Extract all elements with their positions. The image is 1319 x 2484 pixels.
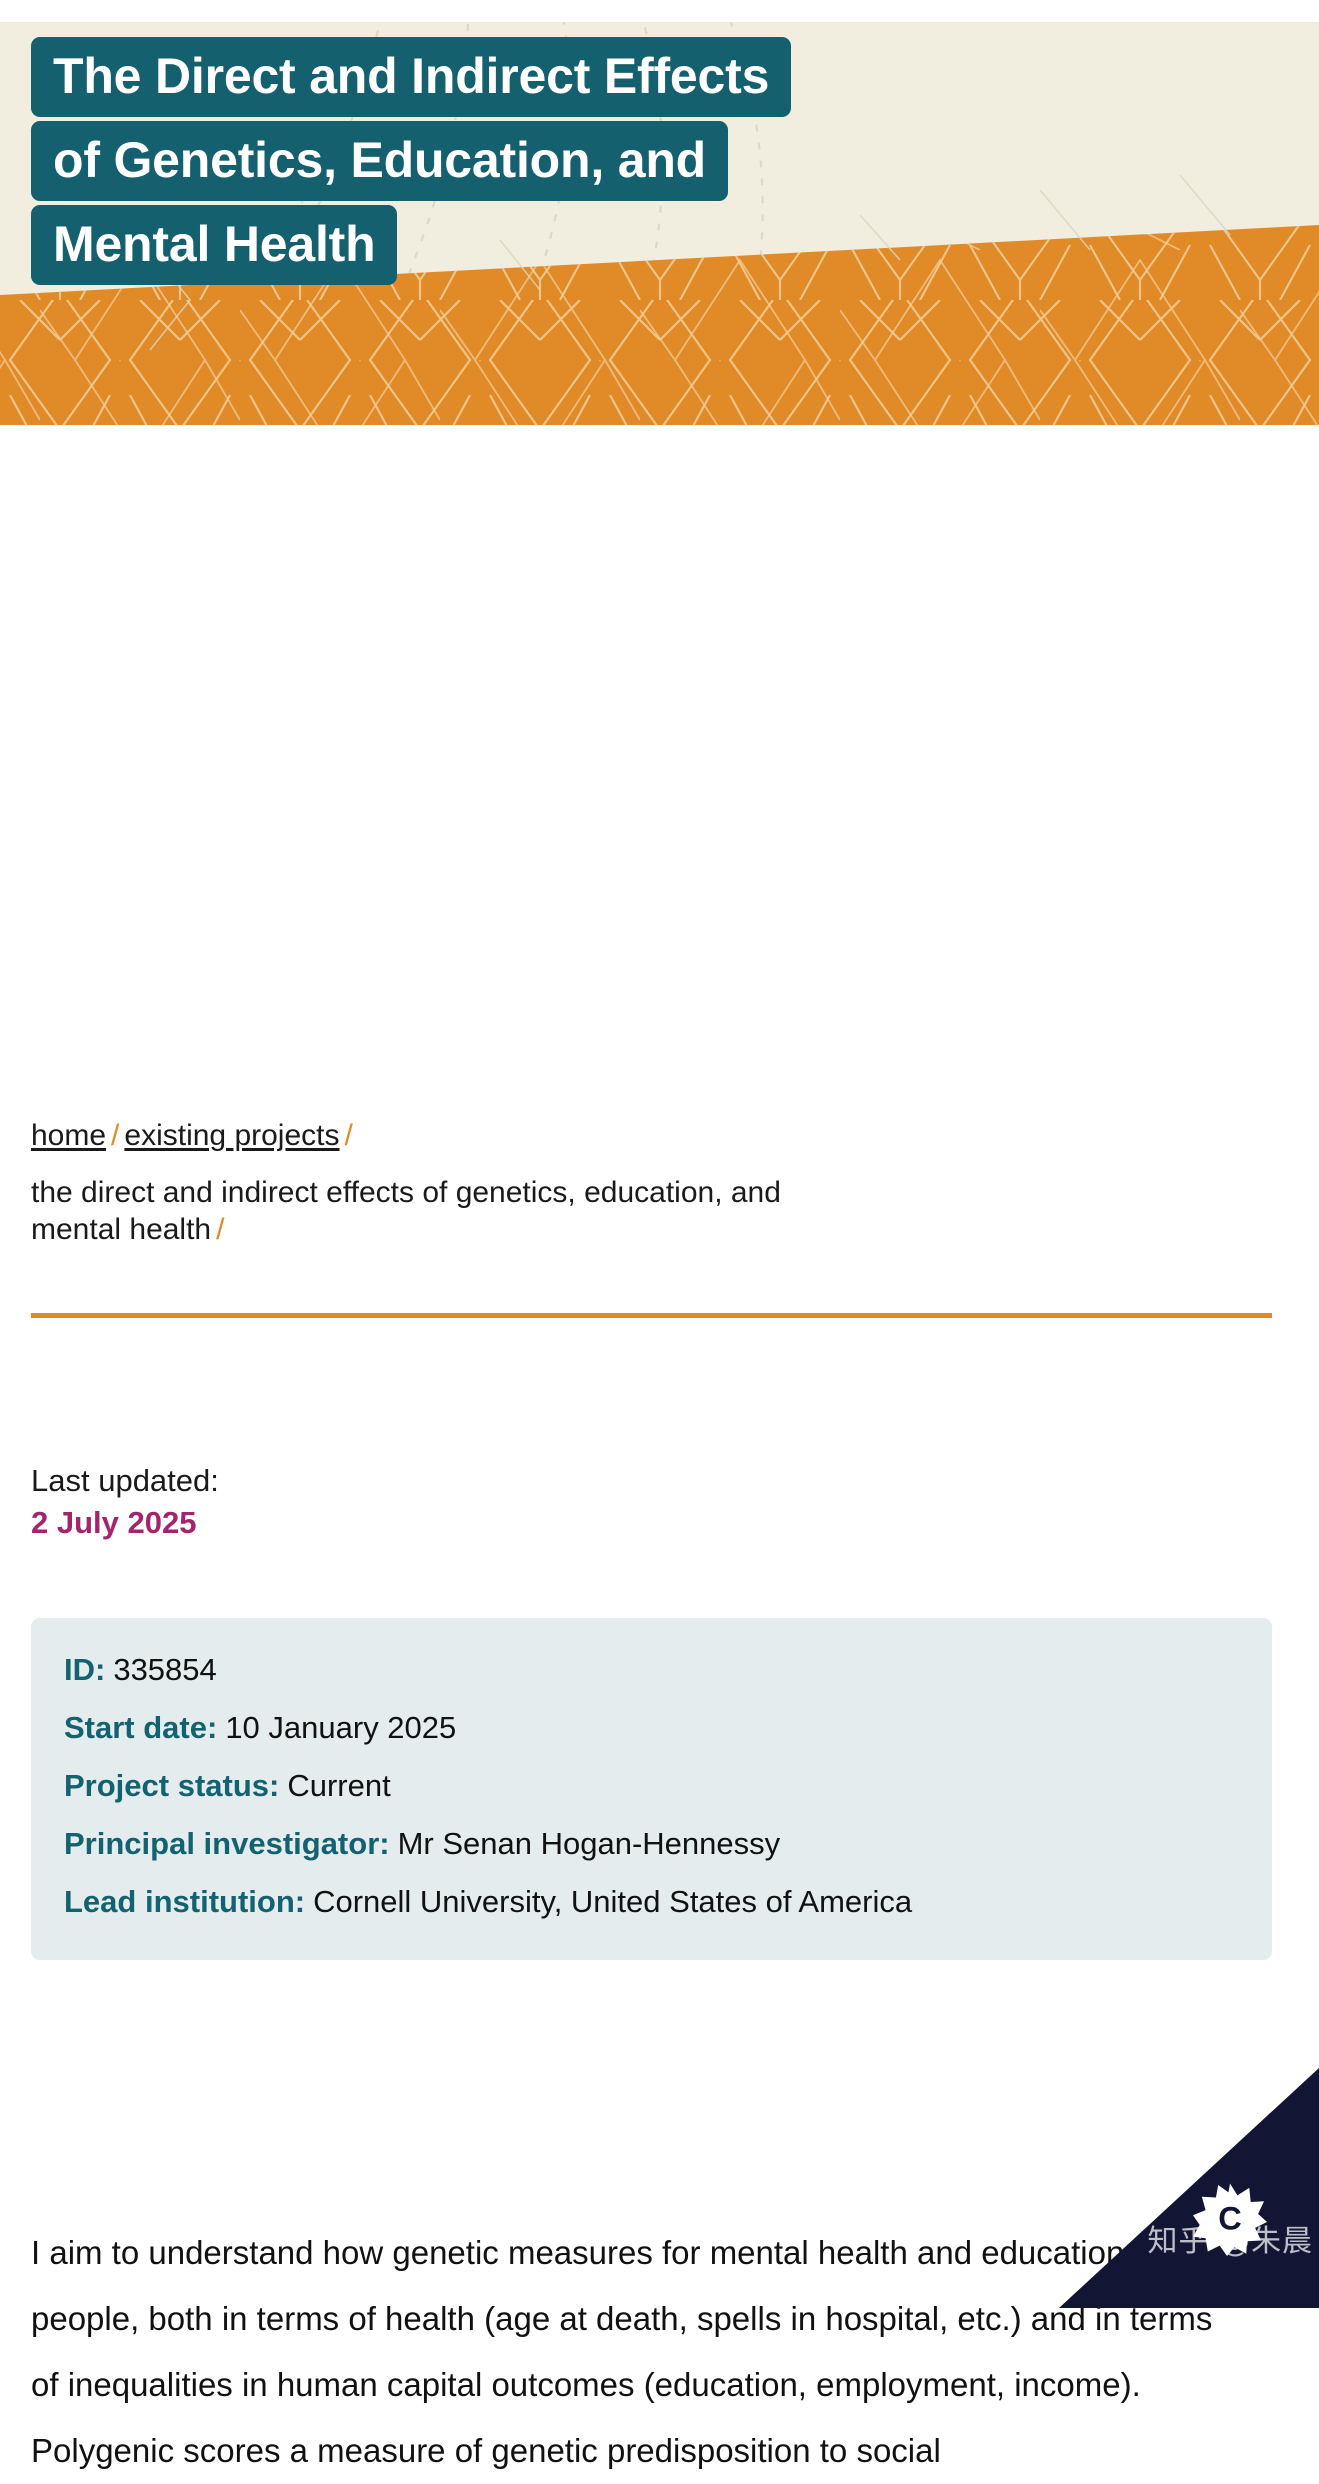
breadcrumb-separator-3: /: [211, 1213, 229, 1246]
info-value-id: 335854: [105, 1652, 216, 1687]
page-title-line-1: The Direct and Indirect Effects: [31, 37, 791, 117]
hero-banner: The Direct and Indirect Effects of Genet…: [0, 0, 1319, 425]
last-updated: Last updated: 2 July 2025: [31, 1463, 219, 1540]
breadcrumb-current-text: the direct and indirect effects of genet…: [31, 1176, 781, 1247]
last-updated-value: 2 July 2025: [31, 1505, 219, 1541]
orange-divider: [31, 1313, 1272, 1318]
last-updated-label: Last updated:: [31, 1463, 219, 1498]
breadcrumb-separator-2: /: [340, 1119, 358, 1152]
page-title-line-3: Mental Health: [31, 205, 397, 285]
info-label-start-date: Start date:: [64, 1710, 217, 1745]
info-value-principal-investigator: Mr Senan Hogan-Hennessy: [390, 1826, 781, 1861]
info-row-id: ID:335854: [64, 1648, 1239, 1692]
watermark-badge-letter: C: [1218, 2200, 1242, 2236]
breadcrumb-link-home[interactable]: home: [31, 1119, 106, 1152]
info-value-start-date: 10 January 2025: [217, 1710, 456, 1745]
info-label-project-status: Project status:: [64, 1768, 279, 1803]
info-label-principal-investigator: Principal investigator:: [64, 1826, 390, 1861]
info-label-lead-institution: Lead institution:: [64, 1884, 305, 1919]
breadcrumb-separator-1: /: [106, 1119, 124, 1152]
info-row-start-date: Start date:10 January 2025: [64, 1706, 1239, 1750]
info-row-principal-investigator: Principal investigator:Mr Senan Hogan-He…: [64, 1822, 1239, 1866]
info-row-project-status: Project status:Current: [64, 1764, 1239, 1808]
top-white-strip: [0, 0, 1319, 22]
breadcrumb-link-existing-projects[interactable]: existing projects: [124, 1119, 339, 1152]
page-title: The Direct and Indirect Effects of Genet…: [31, 37, 791, 289]
page-title-line-2: of Genetics, Education, and: [31, 121, 728, 201]
info-value-project-status: Current: [279, 1768, 390, 1803]
project-info-box: ID:335854 Start date:10 January 2025 Pro…: [31, 1618, 1272, 1960]
info-label-id: ID:: [64, 1652, 105, 1687]
breadcrumb: home/existing projects/ the direct and i…: [31, 1117, 1211, 1249]
info-row-lead-institution: Lead institution:Cornell University, Uni…: [64, 1880, 1239, 1924]
info-value-lead-institution: Cornell University, United States of Ame…: [305, 1884, 912, 1919]
project-description: I aim to understand how genetic measures…: [31, 2220, 1221, 2484]
breadcrumb-current: the direct and indirect effects of genet…: [31, 1174, 831, 1249]
